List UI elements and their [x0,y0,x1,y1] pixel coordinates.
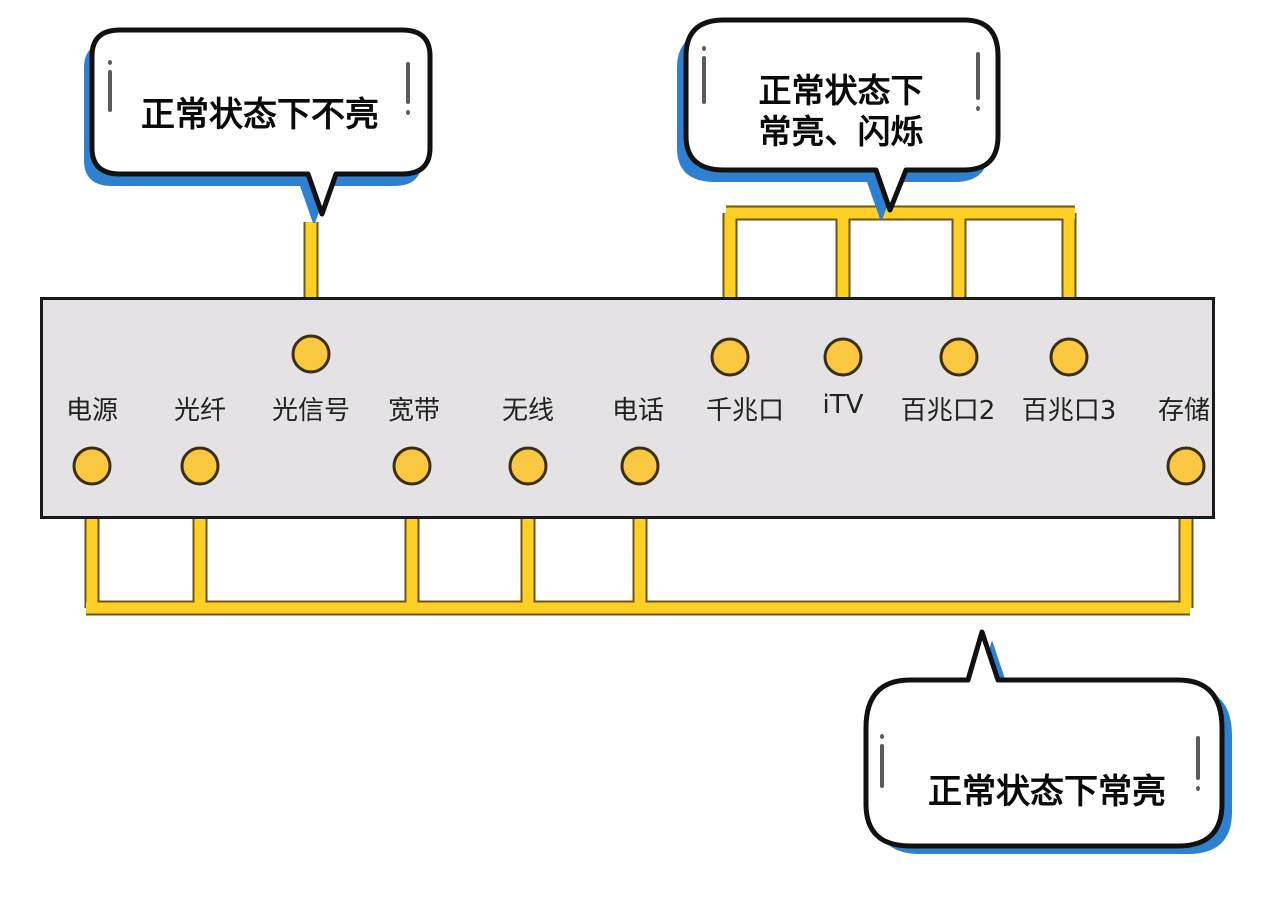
led-label-los: 光信号 [272,390,350,427]
callout-off-shape [84,8,436,223]
led-dot[interactable] [712,339,748,375]
led-label-giga-port: 千兆口 [706,390,784,427]
quote-mark-right-icon [976,52,980,100]
led-label-fe-port-2: 百兆口2 [901,390,996,427]
quote-dot-right-icon [406,110,410,115]
quote-dot-left-icon [702,46,706,51]
quote-dot-right-icon [1196,786,1200,791]
callout-on-or-blink-shape [676,4,1006,219]
callout-off[interactable]: 正常状态下不亮 [84,8,436,223]
quote-mark-right-icon [1196,736,1200,780]
led-dot[interactable] [941,339,977,375]
quote-mark-left-icon [702,56,706,104]
callout-on-or-blink[interactable]: 正常状态下 常亮、闪烁 [676,4,1006,219]
quote-dot-left-icon [108,60,112,65]
led-dot[interactable] [182,448,218,484]
diagram-canvas: .wire-core{stroke:#FFD024;stroke-width:1… [0,0,1274,862]
led-label-broadband: 宽带 [388,390,440,427]
led-dot[interactable] [825,339,861,375]
quote-mark-left-icon [880,744,884,788]
callout-always-on-shape [852,618,1242,856]
led-dot[interactable] [394,448,430,484]
quote-dot-right-icon [976,106,980,111]
led-label-itv: iTV [823,390,864,420]
led-label-fe-port-3: 百兆口3 [1022,390,1117,427]
quote-mark-right-icon [406,62,410,104]
led-dot[interactable] [510,448,546,484]
led-label-wifi: 无线 [502,390,554,427]
led-label-storage: 存储 [1158,390,1210,427]
led-dot[interactable] [1168,448,1204,484]
callout-always-on[interactable]: 正常状态下常亮 [852,618,1242,856]
led-label-power: 电源 [66,390,118,427]
led-label-fiber: 光纤 [174,390,226,427]
quote-dot-left-icon [880,734,884,739]
led-dot[interactable] [293,336,329,372]
led-dot[interactable] [74,448,110,484]
led-label-phone: 电话 [612,390,664,427]
quote-mark-left-icon [108,70,112,112]
led-dot[interactable] [622,448,658,484]
led-dot[interactable] [1051,339,1087,375]
